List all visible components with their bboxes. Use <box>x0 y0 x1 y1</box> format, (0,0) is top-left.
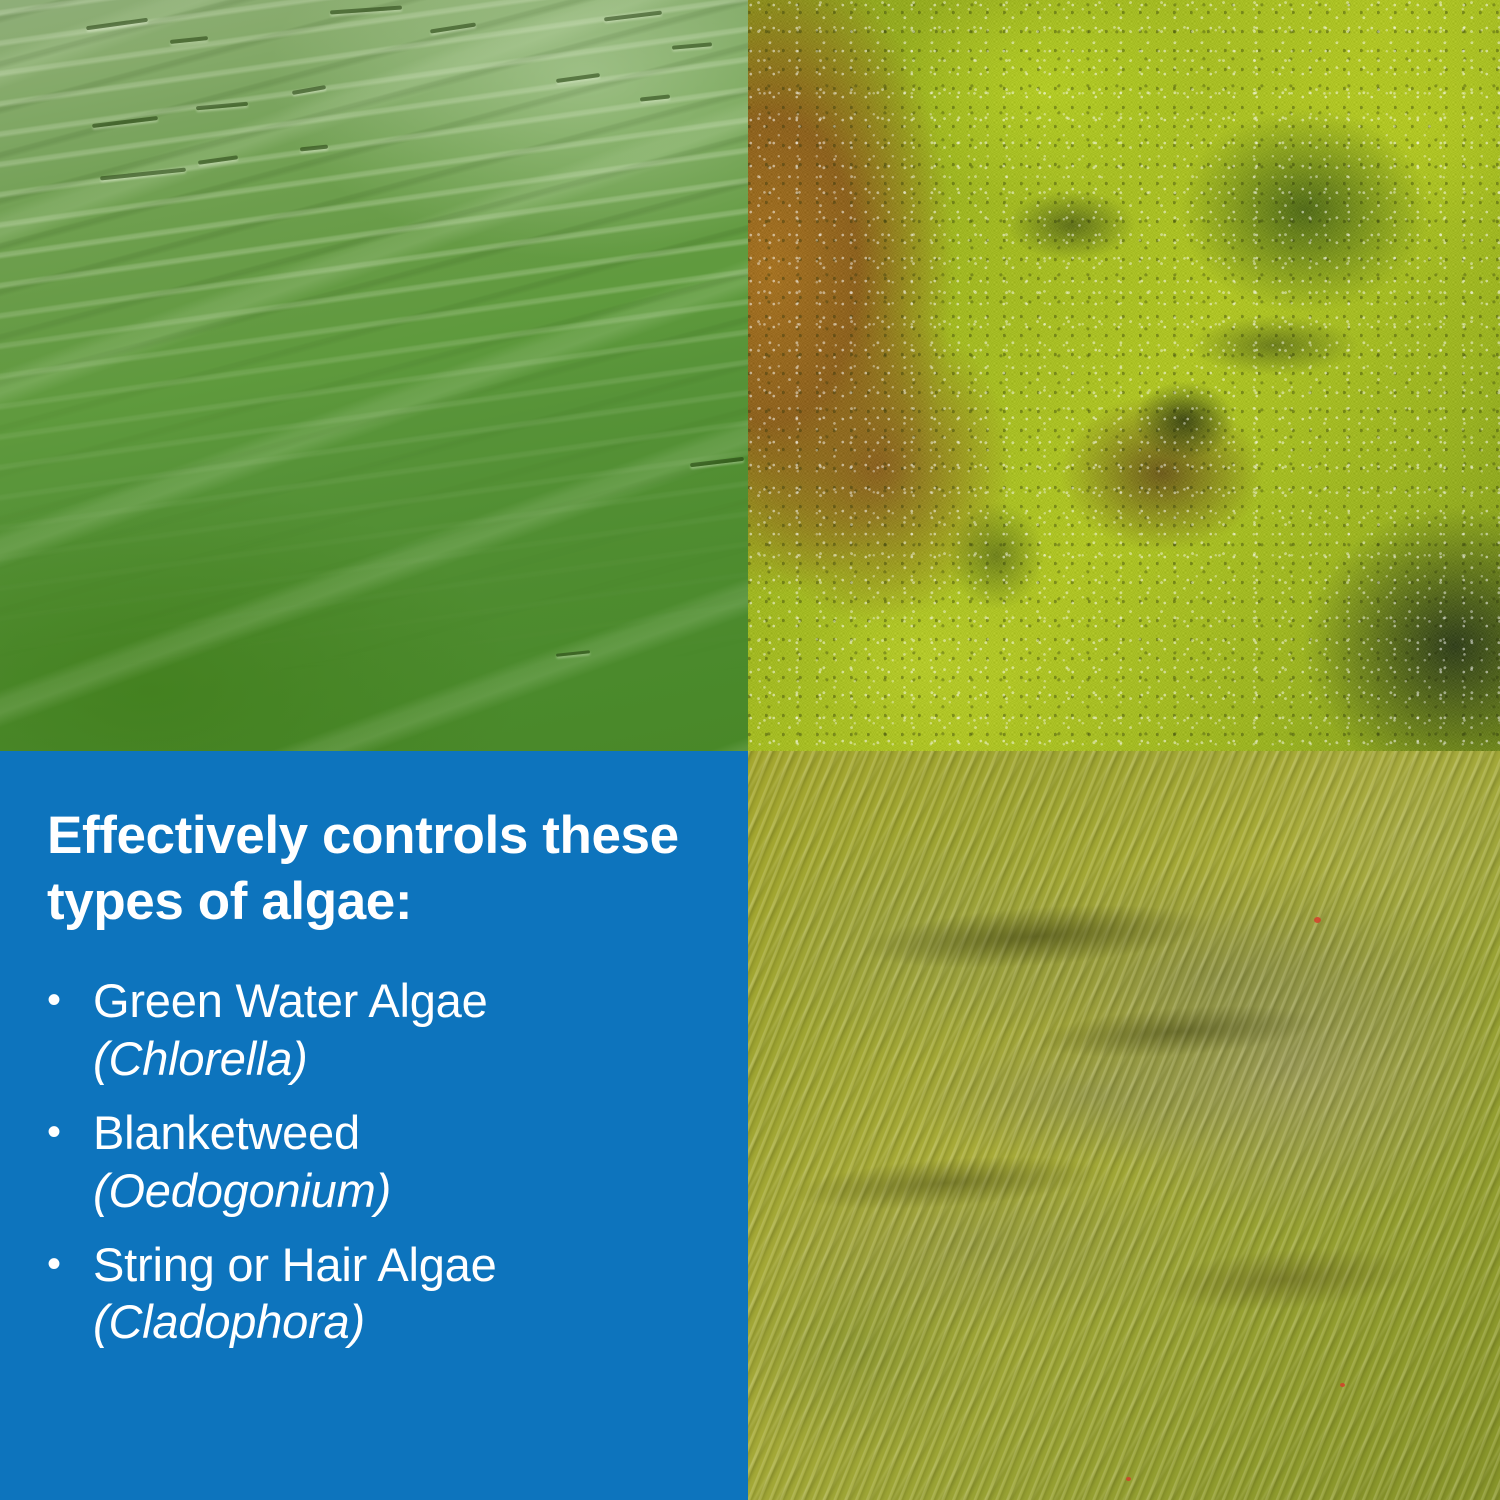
list-item: • String or Hair Algae (Cladophora) <box>47 1236 706 1353</box>
algae-common-name: Blanketweed <box>93 1104 706 1162</box>
algae-types-info-panel: Effectively controls these types of alga… <box>0 751 748 1500</box>
bullet-icon: • <box>47 1236 93 1293</box>
bullet-icon: • <box>47 972 93 1029</box>
algae-item-row: • Blanketweed <box>47 1104 706 1162</box>
algae-scientific-name: (Oedogonium) <box>93 1162 706 1221</box>
algae-types-list: • Green Water Algae (Chlorella) • Blanke… <box>47 972 706 1352</box>
algae-common-name: Green Water Algae <box>93 972 706 1030</box>
algae-item-row: • Green Water Algae <box>47 972 706 1030</box>
algae-common-name: String or Hair Algae <box>93 1236 706 1294</box>
photo-green-water-algae <box>0 0 748 751</box>
list-item: • Blanketweed (Oedogonium) <box>47 1104 706 1221</box>
algae-scientific-name: (Cladophora) <box>93 1293 706 1352</box>
photo-blanketweed-algae <box>748 0 1500 751</box>
bullet-icon: • <box>47 1104 93 1161</box>
product-feature-collage: Effectively controls these types of alga… <box>0 0 1500 1500</box>
panel-heading: Effectively controls these types of alga… <box>47 803 687 934</box>
algae-scientific-name: (Chlorella) <box>93 1030 706 1089</box>
algae-item-row: • String or Hair Algae <box>47 1236 706 1294</box>
blanketweed-speckle-texture <box>748 0 1500 751</box>
photo-string-hair-algae <box>748 751 1500 1500</box>
string-algae-red-specks <box>748 751 1500 1500</box>
list-item: • Green Water Algae (Chlorella) <box>47 972 706 1089</box>
water-surface-dashes <box>0 0 748 751</box>
